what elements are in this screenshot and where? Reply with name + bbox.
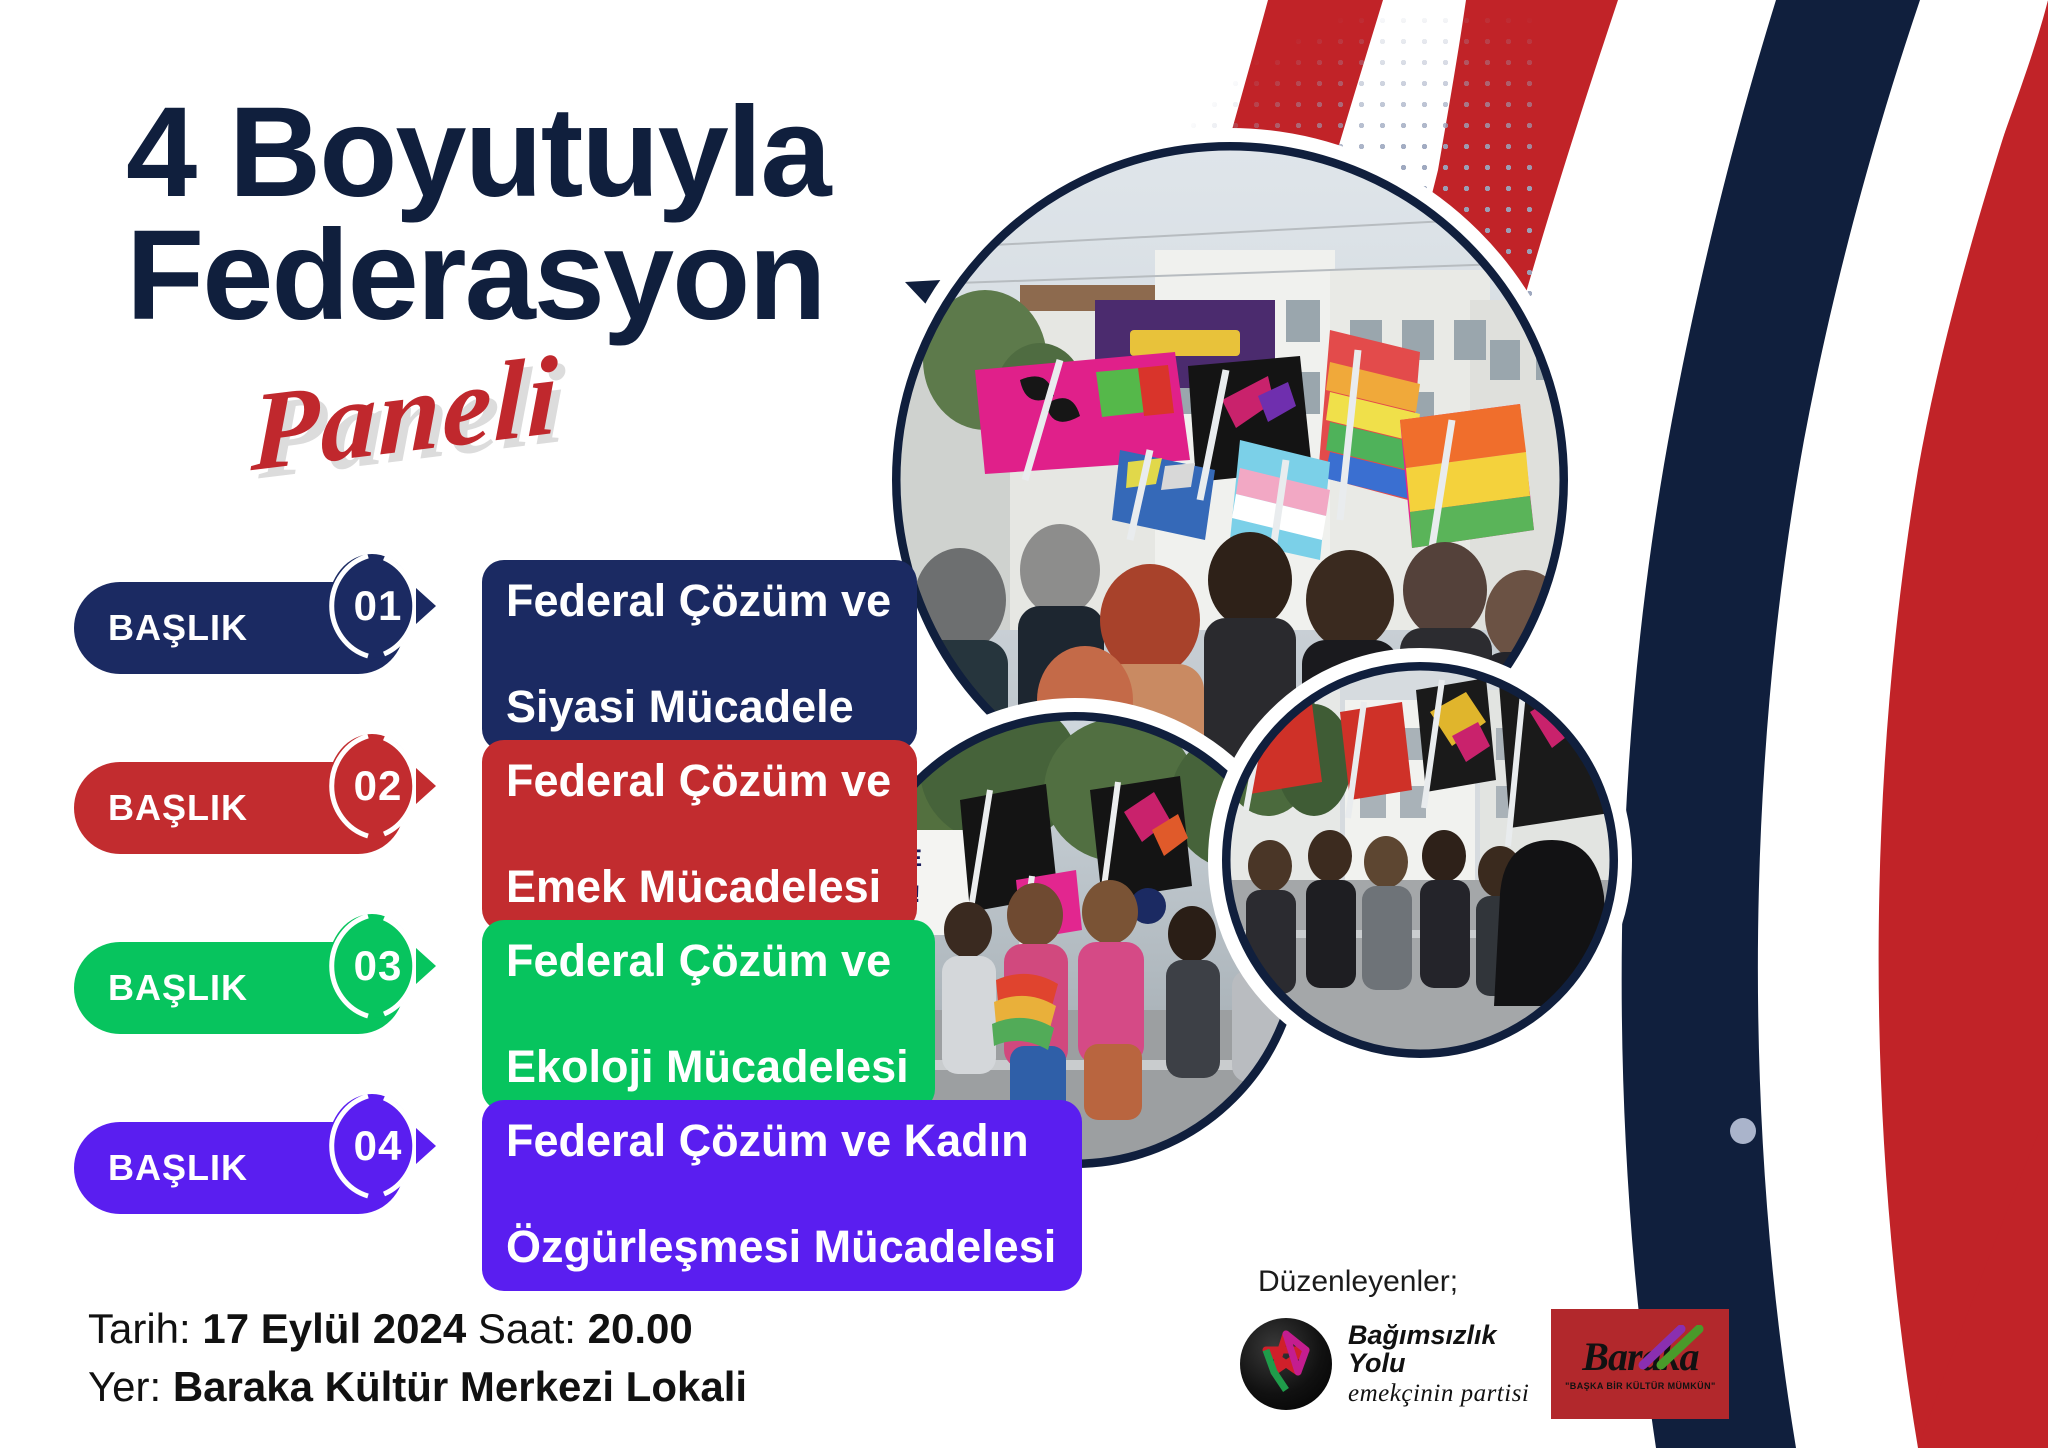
page-title: 4 Boyutuyla Federasyon [126, 92, 1146, 338]
topic-number-text: 02 [318, 732, 438, 840]
star-icon [1240, 1318, 1332, 1410]
photo-small [1216, 652, 1630, 1060]
topic-title-line-1: Federal Çözüm ve [506, 574, 891, 627]
topic-title-line-2: Emek Mücadelesi [506, 860, 891, 913]
topic-title-line-1: Federal Çözüm ve Kadın [506, 1114, 1056, 1167]
deco-navy-band [1614, 0, 1920, 1448]
headline-line-1: 4 Boyutuyla [126, 81, 830, 224]
org-name-line-2: Yolu [1348, 1349, 1529, 1377]
topic-title-box-04[interactable]: Federal Çözüm ve Kadın Özgürleşmesi Müca… [482, 1100, 1082, 1291]
topic-title-text: Federal Çözüm ve Kadın Özgürleşmesi Müca… [506, 1114, 1056, 1273]
topic-badge-label: BAŞLIK [108, 787, 248, 829]
deco-red-band-inner-2 [1148, 0, 1383, 560]
topic-badge-label: BAŞLIK [108, 967, 248, 1009]
org-tagline: emekçinin partisi [1348, 1381, 1529, 1407]
topic-title-line-2: Ekoloji Mücadelesi [506, 1040, 909, 1093]
topic-title-text: Federal Çözüm ve Emek Mücadelesi [506, 754, 891, 913]
place-label: Yer: [88, 1363, 161, 1410]
baraka-logo: Baraka "BAŞKA BİR KÜLTÜR MÜMKÜN" [1551, 1309, 1729, 1419]
topic-list: BAŞLIK 01 Federal Çözüm ve Siyasi Mücade… [0, 560, 1180, 1280]
topic-title-box-02[interactable]: Federal Çözüm ve Emek Mücadelesi [482, 740, 917, 931]
photo-small-ring [1226, 666, 1614, 1054]
topic-number-marker-03: 03 [318, 912, 438, 1020]
topic-title-line-1: Federal Çözüm ve [506, 934, 909, 987]
topic-row: BAŞLIK 03 Federal Çözüm ve Ekoloji Mücad… [0, 920, 1180, 1100]
stray-dot-decoration [1730, 1118, 1756, 1144]
event-place-line: Yer: Baraka Kültür Merkezi Lokali [88, 1358, 747, 1416]
baraka-slash-icon [1637, 1325, 1707, 1371]
poster-root: BİYE LEŞ! [0, 0, 2048, 1448]
time-label: Saat: [478, 1305, 576, 1352]
deco-red-band-inner-1 [1308, 0, 1618, 900]
org-name-line-1: Bağımsızlık [1348, 1321, 1529, 1349]
deco-red-band-outer [1863, 0, 2048, 1448]
topic-title-line-2: Özgürleşmesi Mücadelesi [506, 1220, 1056, 1273]
baraka-tagline: "BAŞKA BİR KÜLTÜR MÜMKÜN" [1565, 1381, 1716, 1391]
topic-badge-label: BAŞLIK [108, 1147, 248, 1189]
topic-row: BAŞLIK 02 Federal Çözüm ve Emek Mücadele… [0, 740, 1180, 920]
date-value: 17 Eylül 2024 [202, 1305, 466, 1352]
organisers-section: Düzenleyenler; Bağımsızlık Yolu emekçini… [1240, 1265, 1729, 1419]
deco-white-gap-outer [1750, 0, 2048, 1448]
topic-title-box-01[interactable]: Federal Çözüm ve Siyasi Mücadele [482, 560, 917, 751]
topic-row: BAŞLIK 04 Federal Çözüm ve Kadın Özgürle… [0, 1100, 1180, 1280]
topic-title-text: Federal Çözüm ve Siyasi Mücadele [506, 574, 891, 733]
topic-badge-label: BAŞLIK [108, 607, 248, 649]
topic-number-marker-02: 02 [318, 732, 438, 840]
topic-title-line-1: Federal Çözüm ve [506, 754, 891, 807]
topic-title-line-2: Siyasi Mücadele [506, 680, 891, 733]
place-value: Baraka Kültür Merkezi Lokali [173, 1363, 747, 1410]
headline-line-2: Federasyon [126, 215, 1146, 338]
time-value: 20.00 [588, 1305, 693, 1352]
organisers-logos: Bağımsızlık Yolu emekçinin partisi Barak… [1240, 1309, 1729, 1419]
decorative-swoosh-group [1148, 0, 2048, 1448]
topic-number-text: 03 [318, 912, 438, 1020]
photo-small-ring-white [1215, 655, 1625, 1065]
topic-title-text: Federal Çözüm ve Ekoloji Mücadelesi [506, 934, 909, 1093]
topic-title-box-03[interactable]: Federal Çözüm ve Ekoloji Mücadelesi [482, 920, 935, 1111]
bagimsizlik-yolu-text: Bağımsızlık Yolu emekçinin partisi [1348, 1321, 1529, 1408]
topic-row: BAŞLIK 01 Federal Çözüm ve Siyasi Mücade… [0, 560, 1180, 740]
headline-script-word: Paneli [250, 330, 561, 498]
date-label: Tarih: [88, 1305, 191, 1352]
topic-number-text: 04 [318, 1092, 438, 1200]
deco-white-gap-inner [1548, 0, 1776, 1448]
bagimsizlik-yolu-logo: Bağımsızlık Yolu emekçinin partisi [1240, 1318, 1529, 1410]
topic-number-marker-01: 01 [318, 552, 438, 660]
event-date-line: Tarih: 17 Eylül 2024 Saat: 20.00 [88, 1300, 747, 1358]
deco-red-bottom-wedge [1918, 1110, 2048, 1448]
topic-number-marker-04: 04 [318, 1092, 438, 1200]
organisers-label: Düzenleyenler; [1258, 1265, 1729, 1299]
topic-number-text: 01 [318, 552, 438, 660]
halftone-dots-decoration [1120, 10, 1540, 570]
event-details: Tarih: 17 Eylül 2024 Saat: 20.00 Yer: Ba… [88, 1300, 747, 1416]
